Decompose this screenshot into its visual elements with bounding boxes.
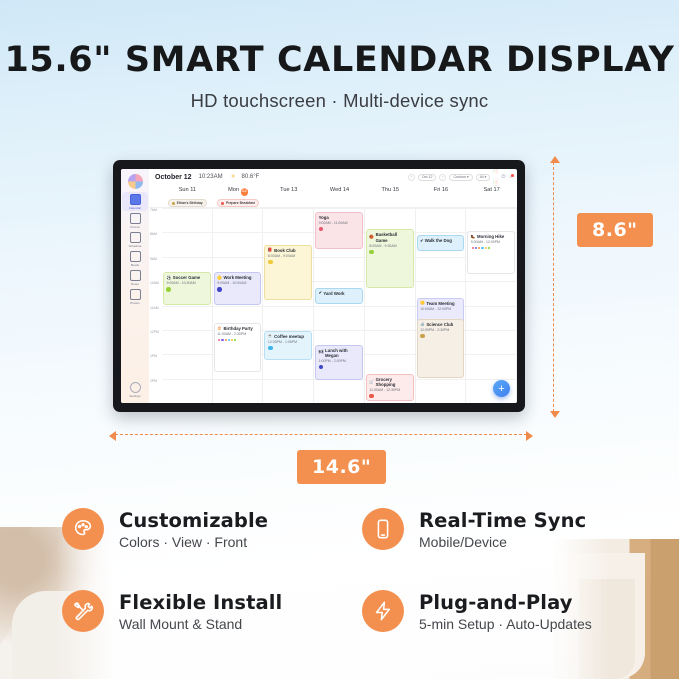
event-badge	[369, 250, 374, 255]
event-title-row: Yoga	[319, 215, 360, 220]
feature-text: Plug-and-Play5-min Setup · Auto-Updates	[419, 591, 592, 632]
day-name: Fri	[434, 187, 441, 193]
feature-subtitle: Mobile/Device	[419, 534, 586, 550]
calendar-event[interactable]: 🎂Birthday Party11:30AM - 2:30PM	[214, 323, 262, 372]
day-header[interactable]: Sun 11	[162, 185, 213, 199]
day-name: Tue	[280, 187, 289, 193]
hour-gridline	[213, 232, 263, 233]
event-title-row: ✔Yard Work	[319, 291, 360, 296]
date-range-pill[interactable]: Oct 12	[418, 174, 437, 181]
sidebar-item-label: Chores	[130, 225, 140, 229]
arrow-right-icon	[526, 431, 533, 441]
day-column[interactable]: 🏀Basketball Game8:00AM - 9:30AM🛒Grocery …	[365, 208, 416, 403]
calendar-icon	[130, 194, 141, 205]
toolbar-controls: ‹ Oct 12 › Custom ▾ All ▾ ⏻ ☼	[408, 169, 513, 186]
hour-gridline	[263, 306, 313, 307]
hour-gridline	[416, 379, 466, 380]
event-icon: 🎂	[217, 326, 222, 331]
all-day-chip[interactable]: Prepare Breakfast	[217, 199, 258, 207]
event-icon: 🟡	[420, 301, 425, 306]
event-title: Science Club	[426, 322, 453, 327]
width-dimension-line	[115, 434, 527, 436]
event-badge	[166, 287, 171, 292]
feature-title: Flexible Install	[119, 591, 282, 614]
all-day-cell[interactable]: Ethan's Birthday	[162, 199, 213, 207]
day-column[interactable]: 🥾Morning Hike9:00AM - 12:00PM	[466, 208, 517, 403]
event-title: Book Club	[274, 248, 295, 253]
sidebar-item-label: Settings	[129, 394, 140, 398]
hour-gridline	[466, 330, 516, 331]
event-dot	[172, 202, 175, 205]
hour-gridline	[162, 208, 212, 209]
day-column[interactable]: 📕Book Club8:00AM - 9:00AM☕Coffee meetup1…	[263, 208, 314, 403]
event-icon: ✔	[420, 239, 423, 244]
sun-icon: ☀	[231, 174, 236, 180]
day-name: Wed	[330, 187, 341, 193]
day-number: 11	[190, 187, 196, 193]
feature-title: Customizable	[119, 509, 268, 532]
event-icon: 🔬	[420, 322, 425, 327]
page-title: 15.6" SMART CALENDAR DISPLAY	[0, 40, 679, 80]
event-title-row: 🎂Birthday Party	[217, 326, 258, 331]
day-number: 12	[241, 188, 249, 196]
event-icon: ☕	[268, 334, 273, 339]
hour-gridline	[365, 306, 415, 307]
day-name: Sat	[484, 187, 492, 193]
feature-item: Flexible InstallWall Mount & Stand	[62, 590, 342, 632]
feature-item: Real-Time SyncMobile/Device	[362, 508, 642, 550]
event-title: Soccer Game	[173, 275, 200, 280]
hour-gridline	[162, 232, 212, 233]
meals-icon	[130, 251, 141, 262]
hour-gridline	[466, 354, 516, 355]
event-time: 12:30PM - 1:05PM	[268, 340, 309, 344]
sidebar-item-schedule[interactable]: Schedule	[122, 230, 148, 249]
height-dimension-badge: 8.6"	[577, 213, 653, 247]
event-title: Yoga	[319, 215, 329, 220]
photos-icon	[130, 289, 141, 300]
sidebar-item-label: Notes	[131, 282, 139, 286]
event-badge	[420, 334, 425, 339]
event-badge	[268, 260, 273, 265]
event-time: 11:00AM - 12:30PM	[369, 388, 410, 392]
calendar-event[interactable]: ✔Yard Work	[315, 288, 363, 304]
all-day-cell[interactable]	[365, 199, 416, 207]
day-name: Thu	[382, 187, 392, 193]
calendar-event[interactable]: 🥾Morning Hike9:00AM - 12:00PM	[467, 231, 515, 274]
all-day-chip[interactable]: Ethan's Birthday	[168, 199, 207, 207]
width-dimension-badge: 14.6"	[297, 450, 386, 484]
device-mockup: CalendarChoresScheduleMealsNotesPhotos S…	[113, 160, 525, 412]
all-day-cell[interactable]: Prepare Breakfast	[213, 199, 264, 207]
calendar-main: October 12 10:23AM ☀ 80.6°F ‹ Oct 12 › C…	[149, 169, 517, 403]
all-day-chip-label: Prepare Breakfast	[226, 201, 255, 205]
day-headers: Sun 11Mon 12Tue 13Wed 14Thu 15Fri 16Sat …	[149, 185, 517, 199]
avatar	[487, 246, 491, 250]
day-header[interactable]: Sat 17	[466, 185, 517, 199]
feature-item: Plug-and-Play5-min Setup · Auto-Updates	[362, 590, 642, 632]
event-title: Yard Work	[323, 291, 344, 296]
schedule-icon	[130, 232, 141, 243]
feature-title: Plug-and-Play	[419, 591, 592, 614]
feature-subtitle: 5-min Setup · Auto-Updates	[419, 616, 592, 632]
hour-gridline	[314, 330, 364, 331]
hour-gridline	[162, 354, 212, 355]
hour-gridline	[416, 208, 466, 209]
event-title: Basketball Game	[376, 232, 410, 243]
all-day-row: Ethan's BirthdayPrepare Breakfast	[149, 199, 517, 208]
event-title-row: 🔬Science Club	[420, 322, 461, 327]
hour-gridline	[213, 306, 263, 307]
sidebar-items: CalendarChoresScheduleMealsNotesPhotos	[122, 192, 148, 306]
event-icon: 🛒	[369, 380, 374, 385]
bolt-icon	[362, 590, 404, 632]
tools-icon	[62, 590, 104, 632]
hour-gridline	[162, 379, 212, 380]
sidebar-item-label: Calendar	[129, 206, 142, 210]
event-title-row: ☕Coffee meetup	[268, 334, 309, 339]
event-time: 9:00AM - 10:00AM	[217, 281, 258, 285]
sidebar-item-label: Schedule	[129, 244, 142, 248]
calendar-event[interactable]: 🟡Work Meeting9:00AM - 10:00AM	[214, 272, 262, 305]
calendar-grid: ⚽Soccer Game9:00AM - 10:30AM🟡Work Meetin…	[149, 208, 517, 403]
event-title-row: ✔Walk the Dog	[420, 238, 461, 243]
feature-list: CustomizableColors · View · FrontReal-Ti…	[62, 508, 642, 632]
avatar	[233, 338, 237, 342]
calendar-event[interactable]: 📕Book Club8:00AM - 9:00AM	[264, 245, 312, 300]
arrow-down-icon	[550, 411, 560, 418]
hour-gridline	[213, 379, 263, 380]
calendar-toolbar: October 12 10:23AM ☀ 80.6°F ‹ Oct 12 › C…	[149, 169, 517, 185]
event-badge	[319, 227, 324, 232]
hour-gridline	[466, 208, 516, 209]
hour-gridline	[263, 379, 313, 380]
calendar-grid-wrapper[interactable]: 7AM8AM9AM10AM11AM12PM1PM2PM ⚽Soccer Game…	[149, 208, 517, 403]
hour-gridline	[416, 232, 466, 233]
event-time: 9:00AM - 10:30AM	[166, 281, 207, 285]
event-avatars	[217, 338, 258, 342]
day-header[interactable]: Fri 16	[416, 185, 467, 199]
feature-subtitle: Colors · View · Front	[119, 534, 268, 550]
event-title-row: 🥾Morning Hike	[471, 234, 512, 239]
sidebar-item-label: Meals	[131, 263, 139, 267]
hour-gridline	[365, 330, 415, 331]
event-title-row: 🟡Work Meeting	[217, 275, 258, 280]
event-time: 12:00PM - 2:30PM	[420, 328, 461, 332]
sidebar-item-calendar[interactable]: Calendar	[122, 192, 148, 211]
event-title: Birthday Party	[223, 326, 252, 331]
wifi-icon: ⏻	[501, 174, 505, 180]
event-icon: 🟡	[217, 276, 222, 281]
event-icon: 📕	[268, 248, 273, 253]
day-header[interactable]: Mon 12	[213, 185, 264, 199]
temperature-label: 80.6°F	[242, 174, 260, 180]
hour-gridline	[416, 257, 466, 258]
device-screen: CalendarChoresScheduleMealsNotesPhotos S…	[121, 169, 517, 403]
hour-gridline	[162, 330, 212, 331]
event-title-row: 🍽Lunch with Megan	[319, 348, 360, 359]
hour-gridline	[263, 208, 313, 209]
feature-item: CustomizableColors · View · Front	[62, 508, 342, 550]
event-time: 10:00AM - 12:00PM	[420, 307, 461, 311]
all-day-cell[interactable]	[466, 199, 517, 207]
event-badge	[268, 346, 273, 351]
add-event-button[interactable]: +	[493, 380, 510, 397]
hour-gridline	[416, 281, 466, 282]
app-logo-icon	[128, 174, 143, 189]
event-title: Walk the Dog	[425, 238, 452, 243]
hour-gridline	[314, 257, 364, 258]
view-select[interactable]: Custom ▾	[449, 174, 472, 181]
day-column[interactable]: ⚽Soccer Game9:00AM - 10:30AM	[162, 208, 213, 403]
sidebar-item-chores[interactable]: Chores	[122, 211, 148, 230]
event-icon: ✔	[319, 291, 322, 296]
calendar-event[interactable]: 🛒Grocery Shopping11:00AM - 12:30PM	[366, 374, 414, 401]
event-time: 8:00AM - 9:00AM	[268, 254, 309, 258]
current-time-label: 10:23AM	[199, 174, 223, 180]
bell-icon[interactable]: ☼	[508, 174, 513, 180]
hour-gridline	[365, 354, 415, 355]
day-name: Mon	[228, 187, 239, 193]
event-dot	[221, 202, 224, 205]
hour-gridline	[314, 208, 364, 209]
hour-gridline	[213, 208, 263, 209]
all-day-chip-label: Ethan's Birthday	[177, 201, 203, 205]
day-header[interactable]: Thu 15	[365, 185, 416, 199]
prev-period-button[interactable]: ‹	[408, 174, 415, 181]
event-badge	[217, 287, 222, 292]
calendar-event[interactable]: 🏀Basketball Game8:00AM - 9:30AM	[366, 229, 414, 288]
calendar-event[interactable]: ⚽Soccer Game9:00AM - 10:30AM	[163, 272, 211, 305]
event-icon: ⚽	[166, 276, 171, 281]
event-time: 9:00AM - 11:00AM	[319, 221, 360, 225]
filter-select[interactable]: All ▾	[476, 174, 491, 181]
event-title: Team Meeting	[426, 301, 454, 306]
calendar-event[interactable]: 🍽Lunch with Megan1:00PM - 2:00PM	[315, 345, 363, 380]
feature-text: CustomizableColors · View · Front	[119, 509, 268, 550]
member-avatars[interactable]	[493, 169, 498, 186]
day-number: 13	[291, 187, 297, 193]
event-time: 8:00AM - 9:30AM	[369, 244, 410, 248]
event-time: 9:00AM - 12:00PM	[471, 240, 512, 244]
all-day-cell[interactable]	[263, 199, 314, 207]
day-column[interactable]: 🟡Work Meeting9:00AM - 10:00AM🎂Birthday P…	[213, 208, 264, 403]
hour-gridline	[263, 232, 313, 233]
gear-icon	[130, 382, 141, 393]
event-icon: 🏀	[369, 235, 374, 240]
feature-text: Real-Time SyncMobile/Device	[419, 509, 586, 550]
calendar-event[interactable]: ☕Coffee meetup12:30PM - 1:05PM	[264, 331, 312, 360]
calendar-event[interactable]: ✔Walk the Dog	[417, 235, 465, 251]
event-title: Grocery Shopping	[376, 377, 410, 388]
day-number: 17	[494, 187, 500, 193]
current-date-label: October 12	[155, 174, 192, 181]
event-title: Lunch with Megan	[325, 348, 359, 359]
day-column[interactable]: ✔Walk the Dog🟡Team Meeting10:00AM - 12:0…	[416, 208, 467, 403]
event-title-row: 🏀Basketball Game	[369, 232, 410, 243]
day-column[interactable]: Yoga9:00AM - 11:00AM✔Yard Work🍽Lunch wit…	[314, 208, 365, 403]
notes-icon	[130, 270, 141, 281]
event-icon: 🥾	[471, 235, 476, 240]
hour-gridline	[466, 281, 516, 282]
arrow-left-icon	[109, 431, 116, 441]
day-header[interactable]: Tue 13	[263, 185, 314, 199]
event-title-row: 🛒Grocery Shopping	[369, 377, 410, 388]
app-sidebar: CalendarChoresScheduleMealsNotesPhotos S…	[121, 169, 149, 403]
event-title-row: ⚽Soccer Game	[166, 275, 207, 280]
all-day-cell[interactable]	[416, 199, 467, 207]
height-dimension-line	[553, 162, 555, 412]
event-avatars	[471, 246, 512, 250]
day-number: 14	[343, 187, 349, 193]
event-title-row: 🟡Team Meeting	[420, 301, 461, 306]
calendar-event[interactable]: 🔬Science Club12:00PM - 2:30PM	[417, 319, 465, 378]
event-time: 11:30AM - 2:30PM	[217, 332, 258, 336]
hour-gridline	[162, 306, 212, 307]
mobile-icon	[362, 508, 404, 550]
day-number: 15	[393, 187, 399, 193]
day-number: 16	[442, 187, 448, 193]
hour-gridline	[466, 379, 516, 380]
sidebar-item-notes[interactable]: Notes	[122, 268, 148, 287]
day-header[interactable]: Wed 14	[314, 185, 365, 199]
hour-gridline	[314, 306, 364, 307]
arrow-up-icon	[550, 156, 560, 163]
sidebar-item-photos[interactable]: Photos	[122, 287, 148, 306]
checklist-icon	[130, 213, 141, 224]
event-badge	[369, 394, 374, 399]
feature-title: Real-Time Sync	[419, 509, 586, 532]
all-day-cell[interactable]	[314, 199, 365, 207]
event-title-row: 📕Book Club	[268, 248, 309, 253]
hour-gridline	[213, 257, 263, 258]
sidebar-item-label: Photos	[130, 301, 140, 305]
sidebar-item-settings[interactable]: Settings	[122, 380, 148, 399]
event-title: Work Meeting	[223, 275, 251, 280]
palette-icon	[62, 508, 104, 550]
headline-block: 15.6" SMART CALENDAR DISPLAY HD touchscr…	[0, 40, 679, 112]
sidebar-item-meals[interactable]: Meals	[122, 249, 148, 268]
page-subtitle: HD touchscreen · Multi-device sync	[0, 90, 679, 112]
hour-gridline	[314, 281, 364, 282]
hour-gridline	[365, 208, 415, 209]
event-time: 1:00PM - 2:00PM	[319, 359, 360, 363]
feature-text: Flexible InstallWall Mount & Stand	[119, 591, 282, 632]
next-period-button[interactable]: ›	[439, 174, 446, 181]
avatar[interactable]	[496, 169, 498, 186]
event-icon: 🍽	[319, 350, 324, 355]
event-badge	[319, 365, 324, 370]
event-title: Coffee meetup	[274, 334, 304, 339]
hour-gridline	[466, 306, 516, 307]
feature-subtitle: Wall Mount & Stand	[119, 616, 282, 632]
day-name: Sun	[179, 187, 189, 193]
event-title: Morning Hike	[477, 234, 504, 239]
hour-gridline	[162, 257, 212, 258]
calendar-event[interactable]: Yoga9:00AM - 11:00AM	[315, 212, 363, 249]
